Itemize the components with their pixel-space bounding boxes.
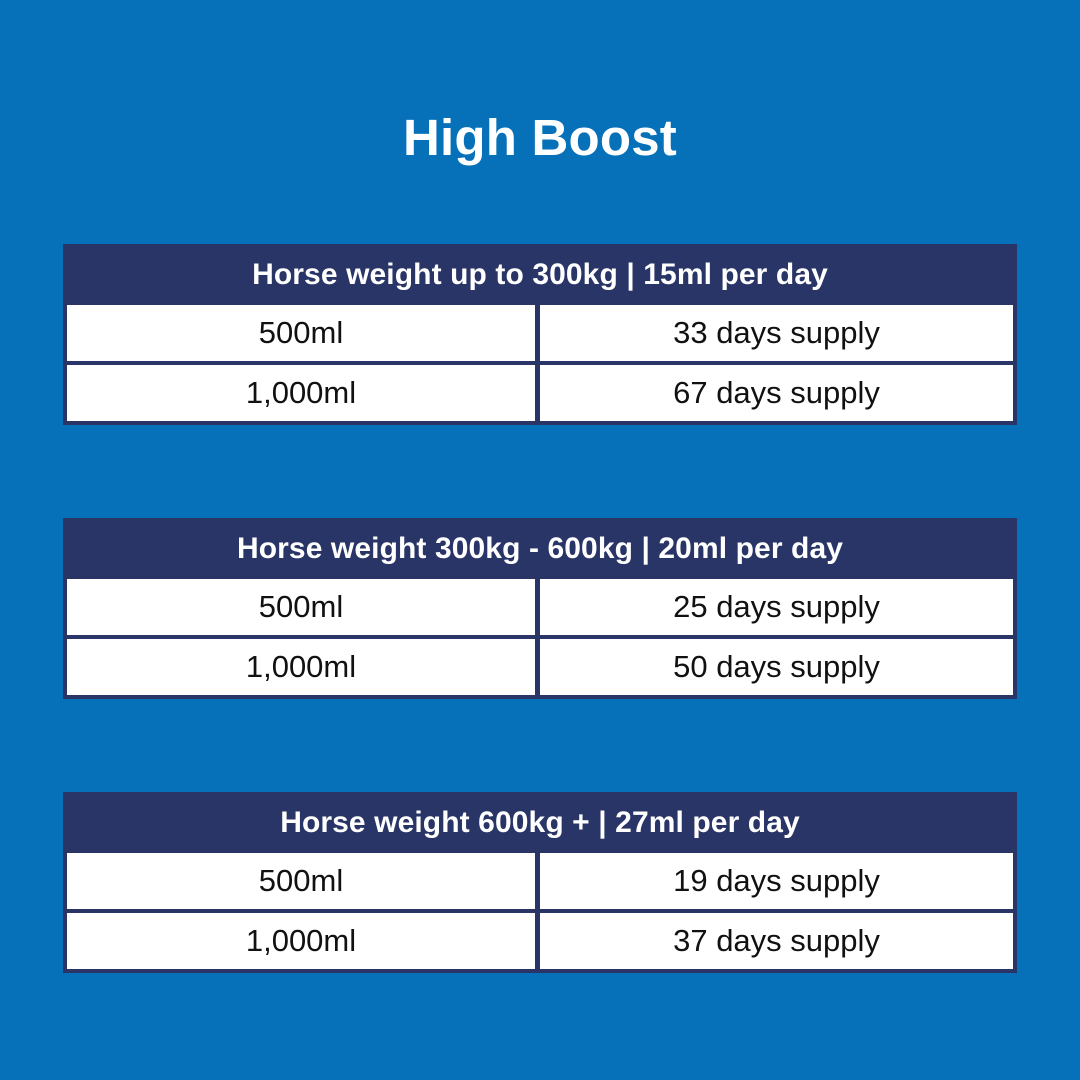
cell-bottle-size: 1,000ml	[67, 639, 540, 695]
cell-days-supply: 67 days supply	[540, 365, 1013, 421]
table-header-600kg-plus: Horse weight 600kg + | 27ml per day	[63, 792, 1017, 853]
table-row: 500ml 25 days supply	[67, 579, 1013, 639]
table-row: 1,000ml 50 days supply	[67, 639, 1013, 695]
table-body-300kg-600kg: 500ml 25 days supply 1,000ml 50 days sup…	[63, 579, 1017, 699]
dosage-table-up-to-300kg: Horse weight up to 300kg | 15ml per day …	[63, 244, 1017, 425]
table-header-up-to-300kg: Horse weight up to 300kg | 15ml per day	[63, 244, 1017, 305]
table-row: 500ml 33 days supply	[67, 305, 1013, 365]
cell-days-supply: 25 days supply	[540, 579, 1013, 635]
table-body-up-to-300kg: 500ml 33 days supply 1,000ml 67 days sup…	[63, 305, 1017, 425]
cell-bottle-size: 1,000ml	[67, 913, 540, 969]
cell-days-supply: 33 days supply	[540, 305, 1013, 361]
cell-days-supply: 50 days supply	[540, 639, 1013, 695]
dosage-table-300kg-600kg: Horse weight 300kg - 600kg | 20ml per da…	[63, 518, 1017, 699]
dosage-table-600kg-plus: Horse weight 600kg + | 27ml per day 500m…	[63, 792, 1017, 973]
table-row: 500ml 19 days supply	[67, 853, 1013, 913]
table-row: 1,000ml 37 days supply	[67, 913, 1013, 969]
cell-days-supply: 37 days supply	[540, 913, 1013, 969]
cell-bottle-size: 500ml	[67, 305, 540, 361]
dosage-poster: High Boost Horse weight up to 300kg | 15…	[0, 0, 1080, 1080]
table-header-300kg-600kg: Horse weight 300kg - 600kg | 20ml per da…	[63, 518, 1017, 579]
dosage-tables-container: Horse weight up to 300kg | 15ml per day …	[63, 244, 1017, 973]
cell-days-supply: 19 days supply	[540, 853, 1013, 909]
cell-bottle-size: 500ml	[67, 579, 540, 635]
table-body-600kg-plus: 500ml 19 days supply 1,000ml 37 days sup…	[63, 853, 1017, 973]
page-title: High Boost	[0, 108, 1080, 168]
table-row: 1,000ml 67 days supply	[67, 365, 1013, 421]
cell-bottle-size: 1,000ml	[67, 365, 540, 421]
cell-bottle-size: 500ml	[67, 853, 540, 909]
